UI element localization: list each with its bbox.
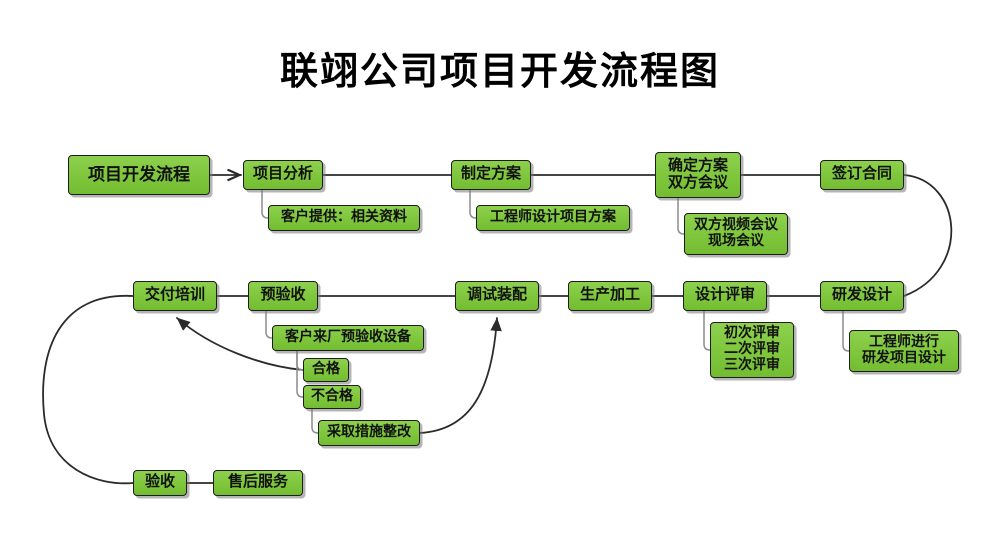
node-review-rounds[interactable]: 初次评审 二次评审 三次评审	[710, 322, 794, 378]
page-title: 联翊公司项目开发流程图	[0, 40, 1000, 95]
node-take-corrective-action[interactable]: 采取措施整改	[318, 420, 420, 446]
node-confirm-plan-meeting[interactable]: 确定方案 双方会议	[655, 152, 741, 198]
node-customer-provides-data[interactable]: 客户提供：相关资料	[268, 205, 420, 231]
node-production-processing[interactable]: 生产加工	[568, 281, 652, 311]
flowchart-canvas: 联翊公司项目开发流程图	[0, 0, 1000, 541]
node-engineer-rnd-project[interactable]: 工程师进行 研发项目设计	[849, 330, 959, 372]
node-video-onsite-meeting[interactable]: 双方视频会议 现场会议	[684, 213, 788, 255]
node-formulate-plan[interactable]: 制定方案	[451, 160, 531, 190]
node-delivery-training[interactable]: 交付培训	[133, 281, 217, 311]
node-sign-contract[interactable]: 签订合同	[820, 160, 904, 190]
node-after-sales-service[interactable]: 售后服务	[213, 470, 303, 496]
node-unqualified[interactable]: 不合格	[303, 385, 361, 409]
node-debug-assembly[interactable]: 调试装配	[455, 281, 539, 311]
edge-n13-n9	[420, 318, 497, 433]
node-design-review[interactable]: 设计评审	[683, 281, 767, 311]
node-pre-acceptance[interactable]: 预验收	[248, 281, 318, 311]
node-engineer-designs-plan[interactable]: 工程师设计项目方案	[476, 205, 630, 231]
edge-n5-n6	[904, 175, 951, 296]
node-project-dev-process[interactable]: 项目开发流程	[68, 155, 210, 195]
node-project-analysis[interactable]: 项目分析	[243, 160, 323, 190]
edge-n14-n15	[43, 296, 133, 484]
node-acceptance[interactable]: 验收	[133, 470, 187, 496]
node-rnd-design[interactable]: 研发设计	[820, 281, 904, 311]
node-customer-factory-check[interactable]: 客户来厂预验收设备	[272, 325, 424, 351]
node-qualified[interactable]: 合格	[303, 358, 349, 382]
